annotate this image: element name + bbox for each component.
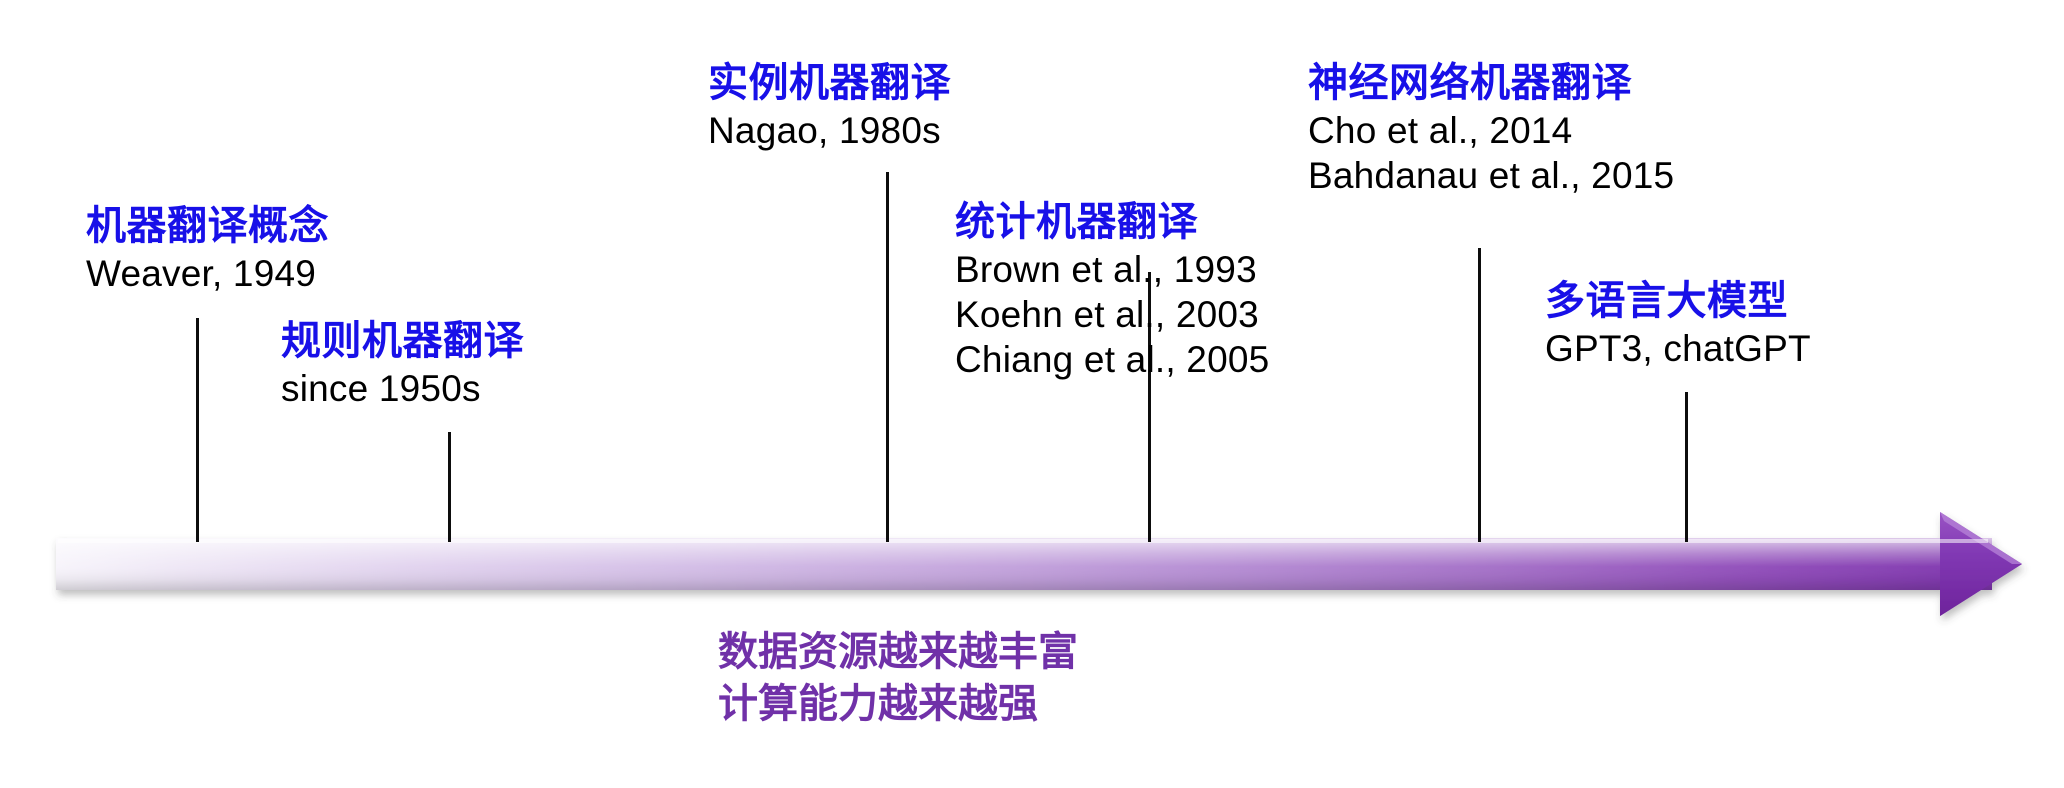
citation-line: Weaver, 1949 — [86, 251, 329, 296]
caption-line-2: 计算能力越来越强 — [718, 678, 1078, 730]
milestone-example-based-machine-translation: 实例机器翻译 Nagao, 1980s — [708, 60, 951, 153]
milestone-citations: Weaver, 1949 — [86, 251, 329, 296]
citation-line: Bahdanau et al., 2015 — [1308, 153, 1674, 198]
milestone-title: 统计机器翻译 — [955, 199, 1269, 246]
leader-line-concept — [196, 318, 199, 542]
milestone-machine-translation-concept: 机器翻译概念 Weaver, 1949 — [86, 203, 329, 296]
leader-line-example — [886, 172, 889, 542]
milestone-citations: Cho et al., 2014 Bahdanau et al., 2015 — [1308, 108, 1674, 198]
milestone-rule-based-machine-translation: 规则机器翻译 since 1950s — [281, 318, 524, 411]
arrow-highlight — [58, 539, 1988, 543]
milestone-citations: Nagao, 1980s — [708, 108, 951, 153]
timeline-caption: 数据资源越来越丰富 计算能力越来越强 — [718, 626, 1078, 730]
caption-line-1: 数据资源越来越丰富 — [718, 626, 1078, 678]
citation-line: Chiang et al., 2005 — [955, 337, 1269, 382]
arrow-body — [56, 512, 2022, 616]
milestone-title: 机器翻译概念 — [86, 203, 329, 250]
leader-line-llm — [1685, 392, 1688, 542]
milestone-title: 实例机器翻译 — [708, 60, 951, 107]
citation-line: Nagao, 1980s — [708, 108, 951, 153]
milestone-multilingual-large-language-model: 多语言大模型 GPT3, chatGPT — [1545, 278, 1811, 371]
citation-line: Cho et al., 2014 — [1308, 108, 1674, 153]
citation-line: Koehn et al., 2003 — [955, 292, 1269, 337]
leader-line-rule — [448, 432, 451, 542]
milestone-citations: since 1950s — [281, 366, 524, 411]
milestone-title: 多语言大模型 — [1545, 278, 1811, 325]
milestone-neural-machine-translation: 神经网络机器翻译 Cho et al., 2014 Bahdanau et al… — [1308, 60, 1674, 198]
milestone-citations: GPT3, chatGPT — [1545, 326, 1811, 371]
leader-line-neural — [1478, 248, 1481, 542]
milestone-title: 神经网络机器翻译 — [1308, 60, 1674, 107]
citation-line: Brown et al., 1993 — [955, 247, 1269, 292]
citation-line: GPT3, chatGPT — [1545, 326, 1811, 371]
milestone-statistical-machine-translation: 统计机器翻译 Brown et al., 1993 Koehn et al., … — [955, 199, 1269, 383]
milestone-title: 规则机器翻译 — [281, 318, 524, 365]
timeline-diagram: 机器翻译概念 Weaver, 1949 规则机器翻译 since 1950s 实… — [0, 0, 2064, 788]
milestone-citations: Brown et al., 1993 Koehn et al., 2003 Ch… — [955, 247, 1269, 382]
citation-line: since 1950s — [281, 366, 524, 411]
